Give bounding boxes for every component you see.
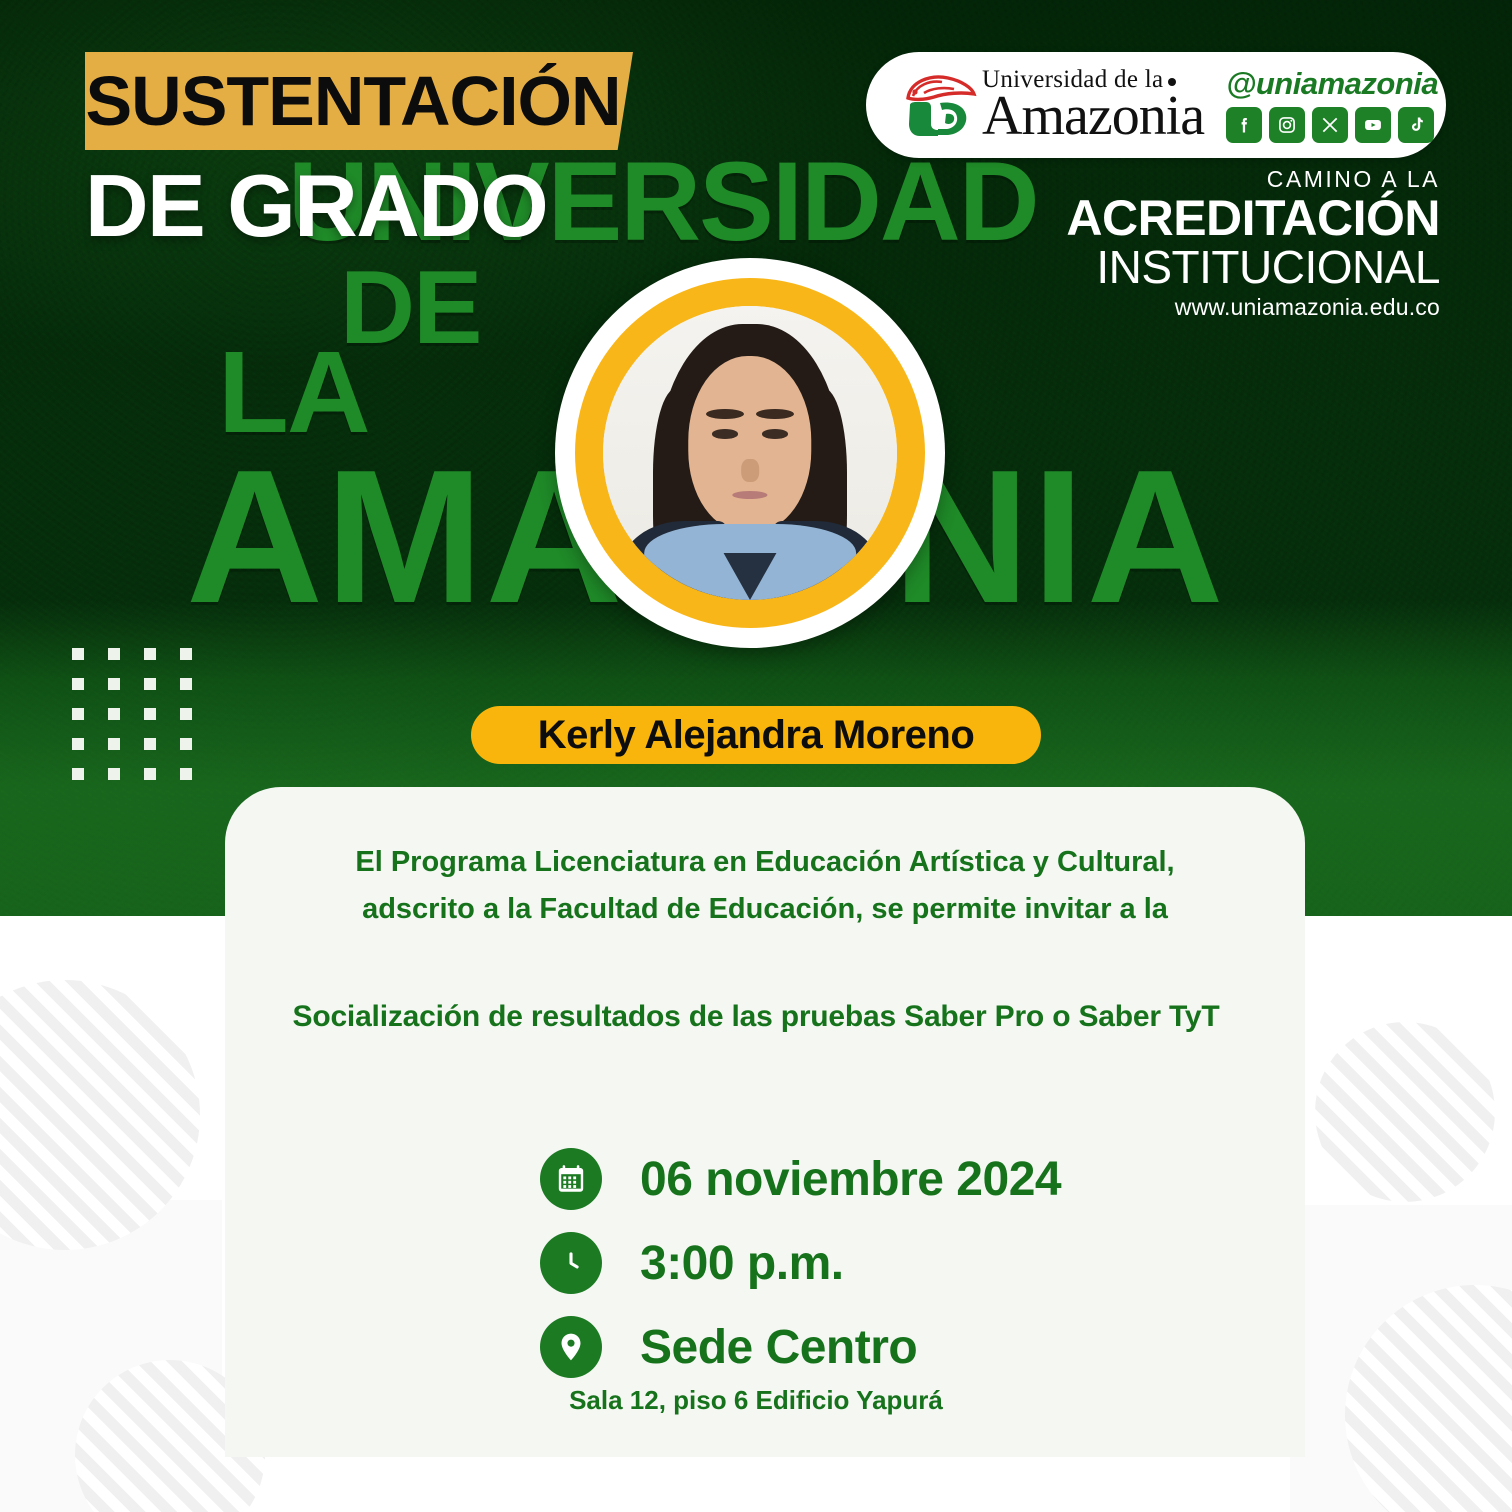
location-pin-icon <box>540 1316 602 1378</box>
title-line-1: SUSTENTACIÓN <box>85 52 633 150</box>
title-banner: SUSTENTACIÓN <box>85 52 633 150</box>
poster-root: UNIVERSIDAD DE LA AMAZONIA SUSTENTACIÓN … <box>0 0 1512 1512</box>
accreditation-website: www.uniamazonia.edu.co <box>1066 296 1440 319</box>
decoration-circle-top-right <box>1315 1022 1495 1202</box>
accreditation-line-2: INSTITUCIONAL <box>1066 244 1440 290</box>
detail-row-time: 3:00 p.m. <box>540 1232 1300 1294</box>
x-twitter-icon[interactable] <box>1312 107 1348 143</box>
social-icons <box>1226 107 1438 143</box>
social-handle: @uniamazonia <box>1226 66 1438 102</box>
instagram-icon[interactable] <box>1269 107 1305 143</box>
youtube-icon[interactable] <box>1355 107 1391 143</box>
student-photo-frame <box>555 258 945 648</box>
program-intro-line-2: adscrito a la Facultad de Educación, se … <box>225 886 1305 933</box>
accreditation-line-1: ACREDITACIÓN <box>1066 193 1440 243</box>
detail-row-venue: Sede Centro <box>540 1316 1300 1378</box>
university-name: Universidad de la Amazonia <box>982 67 1204 144</box>
accreditation-block: CAMINO A LA ACREDITACIÓN INSTITUCIONAL w… <box>1066 168 1440 319</box>
university-name-line-2: Amazonia <box>982 88 1204 144</box>
social-block: @uniamazonia <box>1226 66 1438 143</box>
event-venue: Sede Centro <box>640 1320 917 1375</box>
tiktok-icon[interactable] <box>1398 107 1434 143</box>
student-name-badge: Kerly Alejandra Moreno <box>471 706 1041 764</box>
program-intro: El Programa Licenciatura en Educación Ar… <box>225 839 1305 933</box>
background-word-la: LA <box>218 340 369 444</box>
facebook-icon[interactable] <box>1226 107 1262 143</box>
avatar <box>603 306 897 600</box>
accreditation-kicker: CAMINO A LA <box>1066 168 1440 191</box>
student-name: Kerly Alejandra Moreno <box>538 713 975 758</box>
title-line-2: DE GRADO <box>85 162 547 250</box>
calendar-icon <box>540 1148 602 1210</box>
event-details: 06 noviembre 2024 3:00 p.m. Sede Centro <box>540 1148 1300 1400</box>
detail-row-date: 06 noviembre 2024 <box>540 1148 1300 1210</box>
university-logo-pill: Universidad de la Amazonia @uniamazonia <box>866 52 1446 158</box>
program-intro-line-1: El Programa Licenciatura en Educación Ar… <box>225 839 1305 886</box>
dot-grid-decoration <box>72 648 192 780</box>
event-venue-detail: Sala 12, piso 6 Edificio Yapurá <box>0 1385 1512 1416</box>
event-date: 06 noviembre 2024 <box>640 1152 1061 1207</box>
event-title: Socialización de resultados de las prueb… <box>0 1000 1512 1034</box>
clock-icon <box>540 1232 602 1294</box>
ua-emblem-icon <box>900 72 978 138</box>
event-time: 3:00 p.m. <box>640 1236 844 1291</box>
